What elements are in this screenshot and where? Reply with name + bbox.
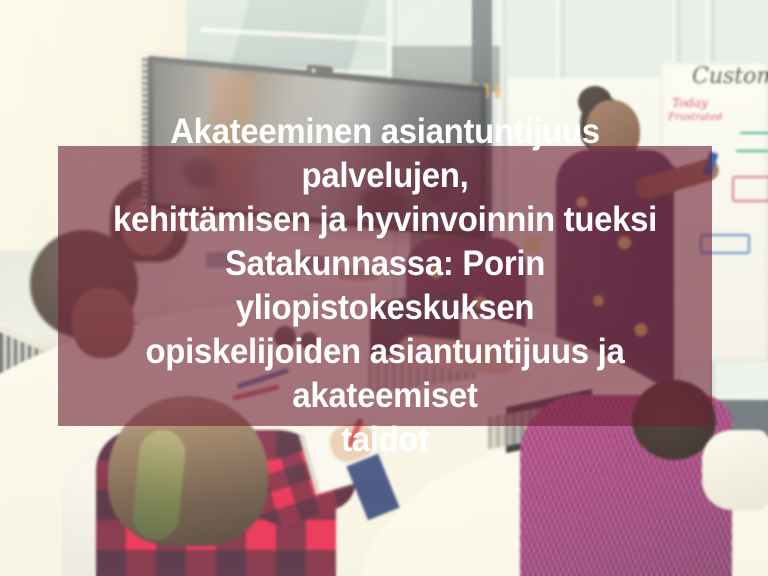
page-title: Akateeminen asiantuntijuus palvelujen,ke… (102, 110, 668, 462)
title-card: Custom Today Frustrated (0, 0, 768, 576)
whiteboard-heading: Custom (692, 64, 768, 89)
display-camera-icon (307, 64, 333, 77)
whiteboard-note-red: Today (672, 96, 708, 110)
whiteboard-marker-line (740, 132, 768, 134)
whiteboard-box (732, 176, 768, 202)
whiteboard-note-red-2: Frustrated (668, 112, 722, 123)
whiteboard-marker-line (736, 150, 768, 152)
title-overlay-banner: Akateeminen asiantuntijuus palvelujen,ke… (58, 146, 712, 426)
chair-right (702, 430, 768, 510)
